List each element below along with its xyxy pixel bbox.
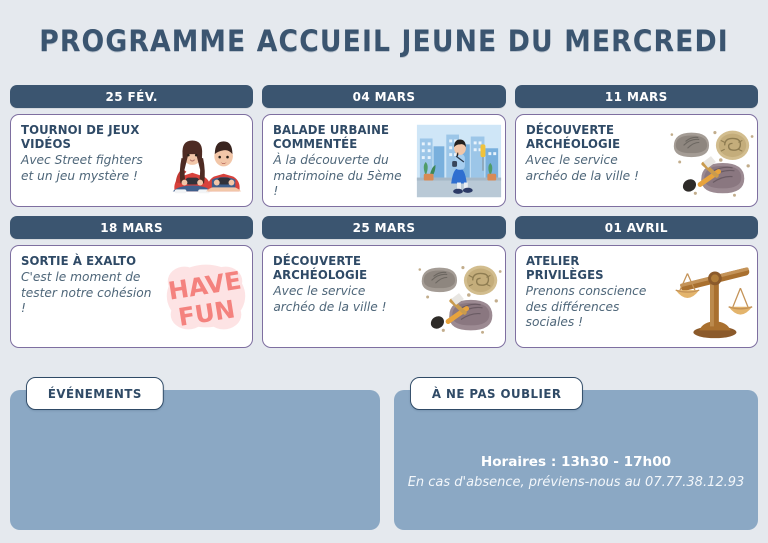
session-title-4: SORTIE À EXALTO [21, 254, 150, 268]
sessions-grid: 25 FÉV. TOURNOI DE JEUX VIDÉOS Avec Stre… [10, 85, 758, 357]
two-kids-gaming-icon [160, 115, 252, 206]
session-title-2: BALADE URBAINE COMMENTÉE [273, 123, 402, 151]
session-column-5: 25 MARS DÉCOUVERTE ARCHÉOLOGIE Avec le s… [262, 216, 505, 348]
fossils-and-tools-icon [413, 246, 505, 347]
session-card-text-3: DÉCOUVERTE ARCHÉOLOGIE Avec le service a… [516, 115, 665, 206]
session-card-text-2: BALADE URBAINE COMMENTÉE À la découverte… [263, 115, 412, 206]
reminder-panel-body: Horaires : 13h30 - 17h00 En cas d'absenc… [394, 390, 758, 530]
session-card-6[interactable]: ATELIER PRIVILÈGES Prenons conscience de… [515, 245, 758, 348]
session-column-3: 11 MARS DÉCOUVERTE ARCHÉOLOGIE Avec le s… [515, 85, 758, 207]
session-subtitle-1: Avec Street fighters et un jeu mystère ! [21, 153, 156, 184]
session-title-3: DÉCOUVERTE ARCHÉOLOGIE [526, 123, 655, 151]
events-panel-body [10, 390, 380, 530]
session-card-text-4: SORTIE À EXALTO C'est le moment de teste… [11, 246, 160, 347]
fossils-and-tools-icon [665, 115, 757, 206]
session-title-6: ATELIER PRIVILÈGES [526, 254, 655, 282]
date-header-2: 04 MARS [262, 85, 505, 108]
absence-instructions: En cas d'absence, préviens-nous au 07.77… [404, 473, 748, 492]
events-panel: ÉVÉNEMENTS [10, 377, 380, 530]
reminder-note: Horaires : 13h30 - 17h00 En cas d'absenc… [394, 453, 758, 492]
woman-walking-city-icon [413, 115, 505, 206]
date-header-1: 25 FÉV. [10, 85, 253, 108]
poster-root: PROGRAMME ACCUEIL JEUNE DU MERCREDI 25 F… [0, 0, 768, 543]
session-card-4[interactable]: SORTIE À EXALTO C'est le moment de teste… [10, 245, 253, 348]
date-header-6: 01 AVRIL [515, 216, 758, 239]
session-column-4: 18 MARS SORTIE À EXALTO C'est le moment … [10, 216, 253, 348]
bottom-panels: ÉVÉNEMENTS Horaires : 13h30 - 17h00 En c… [10, 377, 758, 530]
balance-scales-icon [665, 246, 757, 347]
session-column-2: 04 MARS BALADE URBAINE COMMENTÉE À la dé… [262, 85, 505, 207]
session-card-text-1: TOURNOI DE JEUX VIDÉOS Avec Street fight… [11, 115, 160, 206]
date-header-5: 25 MARS [262, 216, 505, 239]
session-card-3[interactable]: DÉCOUVERTE ARCHÉOLOGIE Avec le service a… [515, 114, 758, 207]
session-subtitle-2: À la découverte du matrimoine du 5ème ! [273, 153, 408, 200]
have-fun-sticker-icon: HAVE FUN [160, 246, 252, 347]
session-title-5: DÉCOUVERTE ARCHÉOLOGIE [273, 254, 402, 282]
session-column-1: 25 FÉV. TOURNOI DE JEUX VIDÉOS Avec Stre… [10, 85, 253, 207]
session-subtitle-3: Avec le service archéo de la ville ! [526, 153, 661, 184]
date-header-3: 11 MARS [515, 85, 758, 108]
session-card-2[interactable]: BALADE URBAINE COMMENTÉE À la découverte… [262, 114, 505, 207]
session-card-5[interactable]: DÉCOUVERTE ARCHÉOLOGIE Avec le service a… [262, 245, 505, 348]
session-card-text-6: ATELIER PRIVILÈGES Prenons conscience de… [516, 246, 665, 347]
session-card-text-5: DÉCOUVERTE ARCHÉOLOGIE Avec le service a… [263, 246, 412, 347]
session-column-6: 01 AVRIL ATELIER PRIVILÈGES Prenons cons… [515, 216, 758, 348]
events-panel-tab: ÉVÉNEMENTS [26, 377, 164, 410]
session-subtitle-4: C'est le moment de tester notre cohésion… [21, 270, 156, 317]
opening-hours: Horaires : 13h30 - 17h00 [404, 453, 748, 472]
reminder-panel-tab: À NE PAS OUBLIER [410, 377, 583, 410]
page-title: PROGRAMME ACCUEIL JEUNE DU MERCREDI [31, 24, 738, 58]
date-header-4: 18 MARS [10, 216, 253, 239]
sessions-row-1: 25 FÉV. TOURNOI DE JEUX VIDÉOS Avec Stre… [10, 85, 758, 207]
session-subtitle-6: Prenons conscience des différences socia… [526, 284, 661, 331]
session-title-1: TOURNOI DE JEUX VIDÉOS [21, 123, 150, 151]
session-subtitle-5: Avec le service archéo de la ville ! [273, 284, 408, 315]
reminder-panel: Horaires : 13h30 - 17h00 En cas d'absenc… [394, 377, 758, 530]
sessions-row-2: 18 MARS SORTIE À EXALTO C'est le moment … [10, 216, 758, 348]
session-card-1[interactable]: TOURNOI DE JEUX VIDÉOS Avec Street fight… [10, 114, 253, 207]
